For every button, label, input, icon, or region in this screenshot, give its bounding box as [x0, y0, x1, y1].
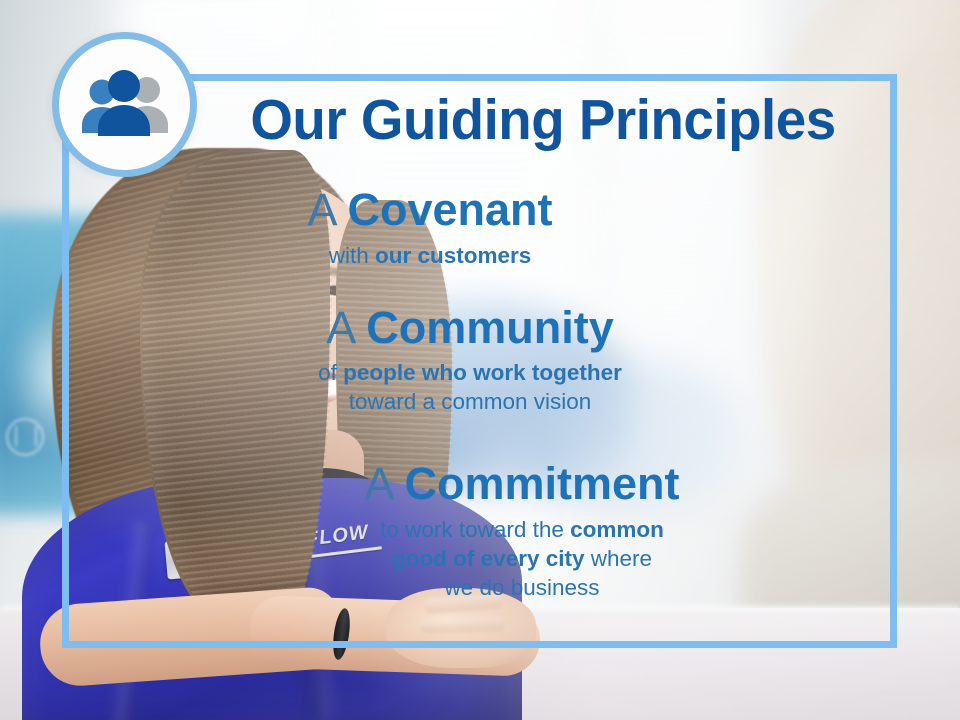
principle-covenant-title: A Covenant: [0, 186, 860, 233]
people-group-badge: [52, 32, 197, 177]
commitment-sub3-lite: we do business: [444, 575, 599, 600]
guiding-principles-graphic: FLOW Automotive FLOW: [0, 0, 960, 720]
community-lead: A: [326, 302, 366, 353]
principle-covenant: A Covenant with our customers: [0, 186, 860, 271]
covenant-sub-bold: our customers: [375, 243, 531, 268]
community-sub-line-1: of people who work together: [40, 359, 900, 388]
principle-commitment-subtitle: to work toward the common good of every …: [92, 516, 952, 602]
commitment-sub-line-2: good of every city where: [92, 545, 952, 574]
commitment-sub1-bold: common: [570, 517, 664, 542]
community-sub1-lite: of: [318, 360, 343, 385]
commitment-sub2-bold: good of every city: [392, 546, 585, 571]
community-sub1-bold: people who work together: [343, 360, 622, 385]
community-sub-line-2: toward a common vision: [40, 388, 900, 417]
covenant-sub-lite: with: [329, 243, 375, 268]
commitment-sub1-lite: to work toward the: [380, 517, 570, 542]
commitment-keyword: Commitment: [405, 458, 680, 509]
principle-commitment-title: A Commitment: [92, 460, 952, 507]
covenant-keyword: Covenant: [348, 184, 553, 235]
commitment-lead: A: [364, 458, 404, 509]
principle-covenant-subtitle: with our customers: [0, 242, 860, 271]
covenant-lead: A: [307, 184, 347, 235]
principle-community-subtitle: of people who work together toward a com…: [40, 359, 900, 417]
page-title: Our Guiding Principles: [231, 92, 855, 149]
community-sub2-lite: toward a common vision: [349, 389, 592, 414]
community-keyword: Community: [366, 302, 614, 353]
principle-community: A Community of people who work together …: [40, 304, 900, 417]
people-group-icon: [77, 70, 173, 140]
employee-finger-secondary: [420, 617, 506, 634]
principle-commitment: A Commitment to work toward the common g…: [92, 460, 952, 603]
commitment-sub2-lite: where: [585, 546, 653, 571]
commitment-sub-line-3: we do business: [92, 574, 952, 603]
principle-community-title: A Community: [40, 304, 900, 351]
commitment-sub-line-1: to work toward the common: [92, 516, 952, 545]
